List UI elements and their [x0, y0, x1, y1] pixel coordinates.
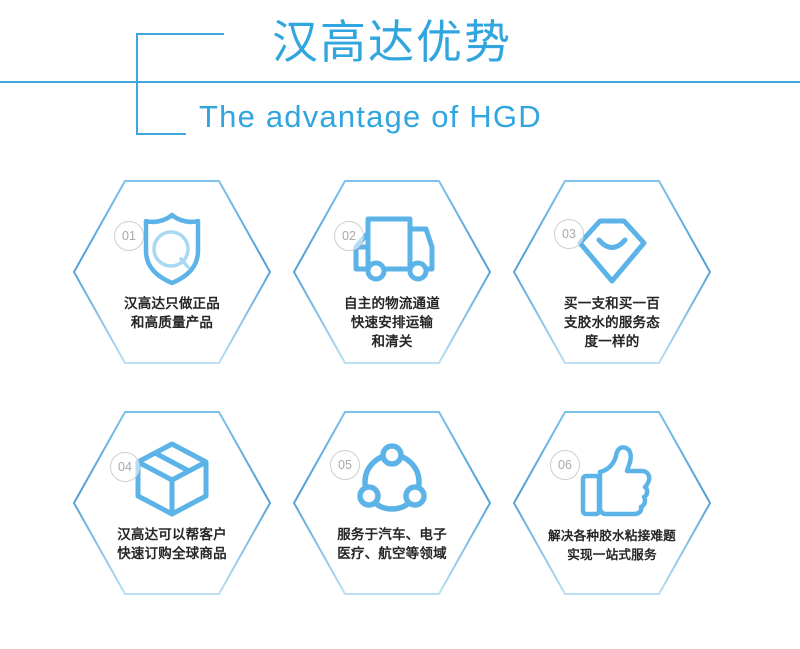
- card-description-line: 快速订购全球商品: [72, 545, 272, 564]
- card-description: 汉高达只做正品 和高质量产品: [72, 295, 272, 333]
- card-badge: 02: [334, 221, 364, 251]
- card-description: 买一支和买一百 支胶水的服务态 度一样的: [512, 295, 712, 352]
- card-description-line: 汉高达可以帮客户: [72, 526, 272, 545]
- header-horizontal-rule: [0, 81, 800, 83]
- bracket-top-line: [136, 33, 224, 35]
- network-share-icon: [346, 438, 438, 520]
- card-description-line: 度一样的: [512, 333, 712, 352]
- advantage-infographic: 汉高达优势 The advantage of HGD 01: [0, 0, 800, 649]
- advantage-card-02[interactable]: 02 自主的物流通道 快速安排运输 和清关: [292, 179, 492, 365]
- advantage-card-05[interactable]: 05 服务于汽车、电子 医疗、航空等领域: [292, 410, 492, 596]
- advantage-card-06[interactable]: 06 解决各种胶水粘接难题 实现一站式服务: [512, 410, 712, 596]
- card-description-line: 和清关: [292, 333, 492, 352]
- page-title-cn: 汉高达优势: [272, 12, 512, 72]
- shield-q-icon: [126, 207, 218, 289]
- card-description-line: 服务于汽车、电子: [292, 526, 492, 545]
- advantage-card-03[interactable]: 03 买一支和买一百 支胶水的服务态 度一样的: [512, 179, 712, 365]
- card-badge: 05: [330, 450, 360, 480]
- advantage-card-04[interactable]: 04 汉高达可以帮客户 快速订购全球商品: [72, 410, 272, 596]
- card-badge: 06: [550, 450, 580, 480]
- truck-icon: [346, 207, 438, 289]
- package-box-icon: [126, 438, 218, 520]
- card-description: 自主的物流通道 快速安排运输 和清关: [292, 295, 492, 352]
- bracket-vertical-line: [136, 33, 138, 135]
- thumbs-up-icon: [566, 438, 658, 520]
- card-description: 汉高达可以帮客户 快速订购全球商品: [72, 526, 272, 564]
- card-badge: 01: [114, 221, 144, 251]
- card-description: 解决各种胶水粘接难题 实现一站式服务: [512, 526, 712, 564]
- advantage-card-grid: 01 汉高达只做正品 和高质量产品: [0, 160, 800, 649]
- page-header: 汉高达优势 The advantage of HGD: [0, 0, 800, 160]
- card-description-line: 汉高达只做正品: [72, 295, 272, 314]
- card-description-line: 医疗、航空等领域: [292, 545, 492, 564]
- advantage-card-01[interactable]: 01 汉高达只做正品 和高质量产品: [72, 179, 272, 365]
- card-description-line: 自主的物流通道: [292, 295, 492, 314]
- card-description-line: 支胶水的服务态: [512, 314, 712, 333]
- page-title-en: The advantage of HGD: [199, 96, 542, 138]
- card-description-line: 实现一站式服务: [512, 545, 712, 564]
- card-description-line: 解决各种胶水粘接难题: [512, 526, 712, 545]
- card-description-line: 买一支和买一百: [512, 295, 712, 314]
- card-badge: 04: [110, 452, 140, 482]
- card-badge: 03: [554, 219, 584, 249]
- card-description: 服务于汽车、电子 医疗、航空等领域: [292, 526, 492, 564]
- bracket-bottom-line: [136, 133, 186, 135]
- card-description-line: 快速安排运输: [292, 314, 492, 333]
- card-description-line: 和高质量产品: [72, 314, 272, 333]
- diamond-smile-icon: [566, 207, 658, 289]
